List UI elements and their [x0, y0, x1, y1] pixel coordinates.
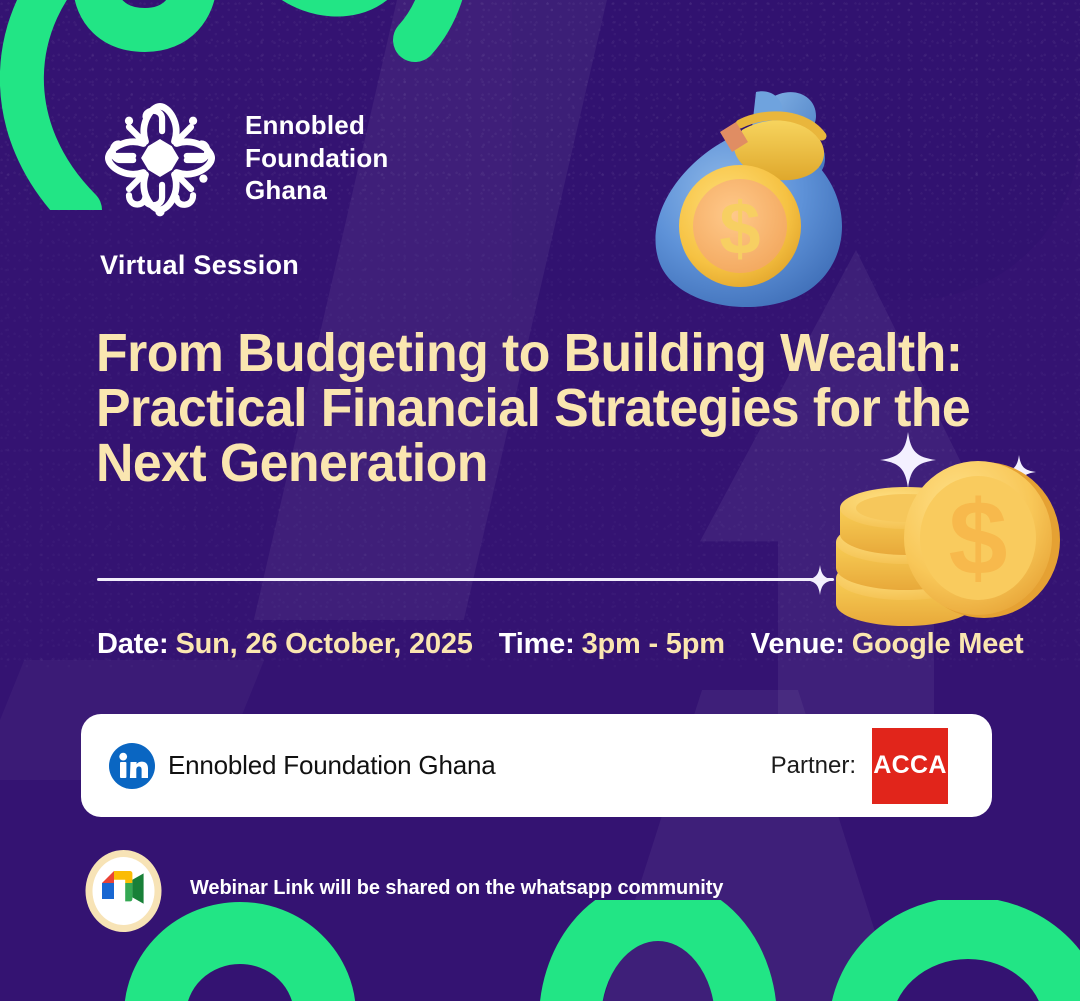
svg-text:$: $	[719, 187, 760, 270]
venue-label: Venue:	[751, 628, 845, 660]
partner-section: Partner: ACCA	[771, 728, 992, 804]
light-beam-left	[254, 0, 616, 620]
time-label: Time:	[499, 628, 575, 660]
brand-name-line-3: Ghana	[245, 174, 389, 207]
brand-name: Ennobled Foundation Ghana	[245, 109, 389, 207]
google-meet-icon[interactable]	[84, 849, 163, 933]
event-date: Date:Sun, 26 October, 2025	[97, 628, 473, 661]
linkedin-handle[interactable]: Ennobled Foundation Ghana	[168, 750, 496, 781]
acca-logo-text: ACCA	[873, 751, 946, 780]
event-time: Time:3pm - 5pm	[499, 628, 725, 661]
money-bag-illustration: $	[620, 68, 870, 313]
linkedin-icon[interactable]	[108, 742, 156, 790]
divider	[97, 578, 834, 581]
event-meta-row: Date:Sun, 26 October, 2025 Time:3pm - 5p…	[97, 628, 1057, 661]
brand-header: Ennobled Foundation Ghana	[98, 96, 389, 220]
social-partner-card: Ennobled Foundation Ghana Partner: ACCA	[81, 714, 992, 817]
mandala-logo-icon	[98, 96, 222, 220]
brand-name-line-2: Foundation	[245, 142, 389, 175]
page-title: From Budgeting to Building Wealth: Pract…	[96, 326, 1023, 491]
svg-text:$: $	[949, 479, 1008, 597]
partner-label: Partner:	[771, 752, 856, 780]
event-poster: $	[0, 0, 1080, 1001]
brand-name-line-1: Ennobled	[245, 109, 389, 142]
session-type-label: Virtual Session	[100, 250, 299, 281]
webinar-note: Webinar Link will be shared on the whats…	[190, 877, 723, 900]
venue-value: Google Meet	[852, 628, 1024, 660]
time-value: 3pm - 5pm	[582, 628, 725, 660]
event-venue: Venue:Google Meet	[751, 628, 1024, 661]
acca-logo: ACCA	[872, 728, 948, 804]
date-value: Sun, 26 October, 2025	[176, 628, 473, 660]
date-label: Date:	[97, 628, 169, 660]
